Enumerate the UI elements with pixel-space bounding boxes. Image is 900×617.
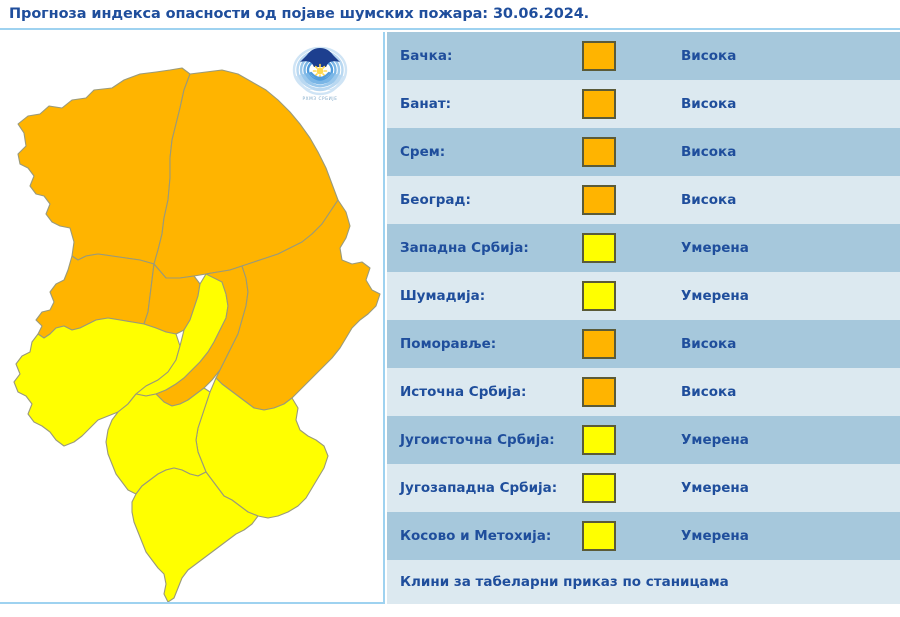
danger-color-cell: [582, 377, 616, 407]
logo-caption: РХМЗ СРБИЈЕ: [303, 96, 338, 101]
region-danger-table: Бачка:ВисокаБанат:ВисокаСрем:ВисокаБеогр…: [387, 32, 900, 604]
table-row: Поморавље:Висока: [387, 320, 900, 368]
table-row: Бачка:Висока: [387, 32, 900, 80]
tabular-view-link[interactable]: Клини за табеларни приказ по станицама: [400, 574, 729, 590]
danger-color-swatch: [582, 329, 616, 359]
region-label: Банат:: [400, 96, 451, 112]
danger-color-swatch: [582, 137, 616, 167]
region-label: Бачка:: [400, 48, 452, 64]
page-header: Прогноза индекса опасности од појаве шум…: [0, 0, 900, 30]
table-rows: Бачка:ВисокаБанат:ВисокаСрем:ВисокаБеогр…: [387, 32, 900, 560]
danger-color-cell: [582, 137, 616, 167]
danger-color-cell: [582, 521, 616, 551]
danger-level-value: Висока: [681, 384, 736, 400]
danger-level-value: Висока: [681, 144, 736, 160]
table-row: Косово и Метохија:Умерена: [387, 512, 900, 560]
danger-level-value: Умерена: [681, 432, 749, 448]
table-row: Београд:Висока: [387, 176, 900, 224]
danger-level-value: Висока: [681, 48, 736, 64]
table-row: Срем:Висока: [387, 128, 900, 176]
region-label: Источна Србија:: [400, 384, 526, 400]
region-label: Поморавље:: [400, 336, 496, 352]
danger-level-value: Висока: [681, 192, 736, 208]
region-label: Западна Србија:: [400, 240, 529, 256]
danger-color-cell: [582, 281, 616, 311]
danger-color-swatch: [582, 233, 616, 263]
page-title: Прогноза индекса опасности од појаве шум…: [9, 6, 589, 22]
region-label: Срем:: [400, 144, 445, 160]
table-row: Југозападна Србија:Умерена: [387, 464, 900, 512]
danger-color-cell: [582, 89, 616, 119]
danger-level-value: Умерена: [681, 480, 749, 496]
table-row: Западна Србија:Умерена: [387, 224, 900, 272]
region-label: Београд:: [400, 192, 471, 208]
danger-color-cell: [582, 329, 616, 359]
danger-color-swatch: [582, 377, 616, 407]
danger-color-swatch: [582, 473, 616, 503]
rhmz-serbia-logo: РХМЗ СРБИЈЕ: [292, 44, 348, 102]
region-label: Југозападна Србија:: [400, 480, 557, 496]
region-label: Косово и Метохија:: [400, 528, 551, 544]
danger-level-value: Умерена: [681, 240, 749, 256]
fire-danger-forecast-page: Прогноза индекса опасности од појаве шум…: [0, 0, 900, 617]
danger-color-swatch: [582, 281, 616, 311]
region-label: Југоисточна Србија:: [400, 432, 555, 448]
serbia-fire-danger-map[interactable]: [0, 32, 385, 604]
table-row: Југоисточна Србија:Умерена: [387, 416, 900, 464]
danger-color-swatch: [582, 425, 616, 455]
danger-level-value: Умерена: [681, 528, 749, 544]
danger-color-cell: [582, 425, 616, 455]
table-row: Шумадија:Умерена: [387, 272, 900, 320]
danger-color-swatch: [582, 41, 616, 71]
danger-color-swatch: [582, 521, 616, 551]
danger-color-cell: [582, 41, 616, 71]
table-row: Банат:Висока: [387, 80, 900, 128]
danger-level-value: Умерена: [681, 288, 749, 304]
danger-color-swatch: [582, 89, 616, 119]
danger-color-cell: [582, 233, 616, 263]
danger-color-swatch: [582, 185, 616, 215]
region-label: Шумадија:: [400, 288, 485, 304]
map-panel: РХМЗ СРБИЈЕ: [0, 32, 385, 604]
table-footer-row: Клини за табеларни приказ по станицама: [387, 560, 900, 604]
danger-color-cell: [582, 473, 616, 503]
table-row: Источна Србија:Висока: [387, 368, 900, 416]
danger-level-value: Висока: [681, 96, 736, 112]
danger-color-cell: [582, 185, 616, 215]
danger-level-value: Висока: [681, 336, 736, 352]
